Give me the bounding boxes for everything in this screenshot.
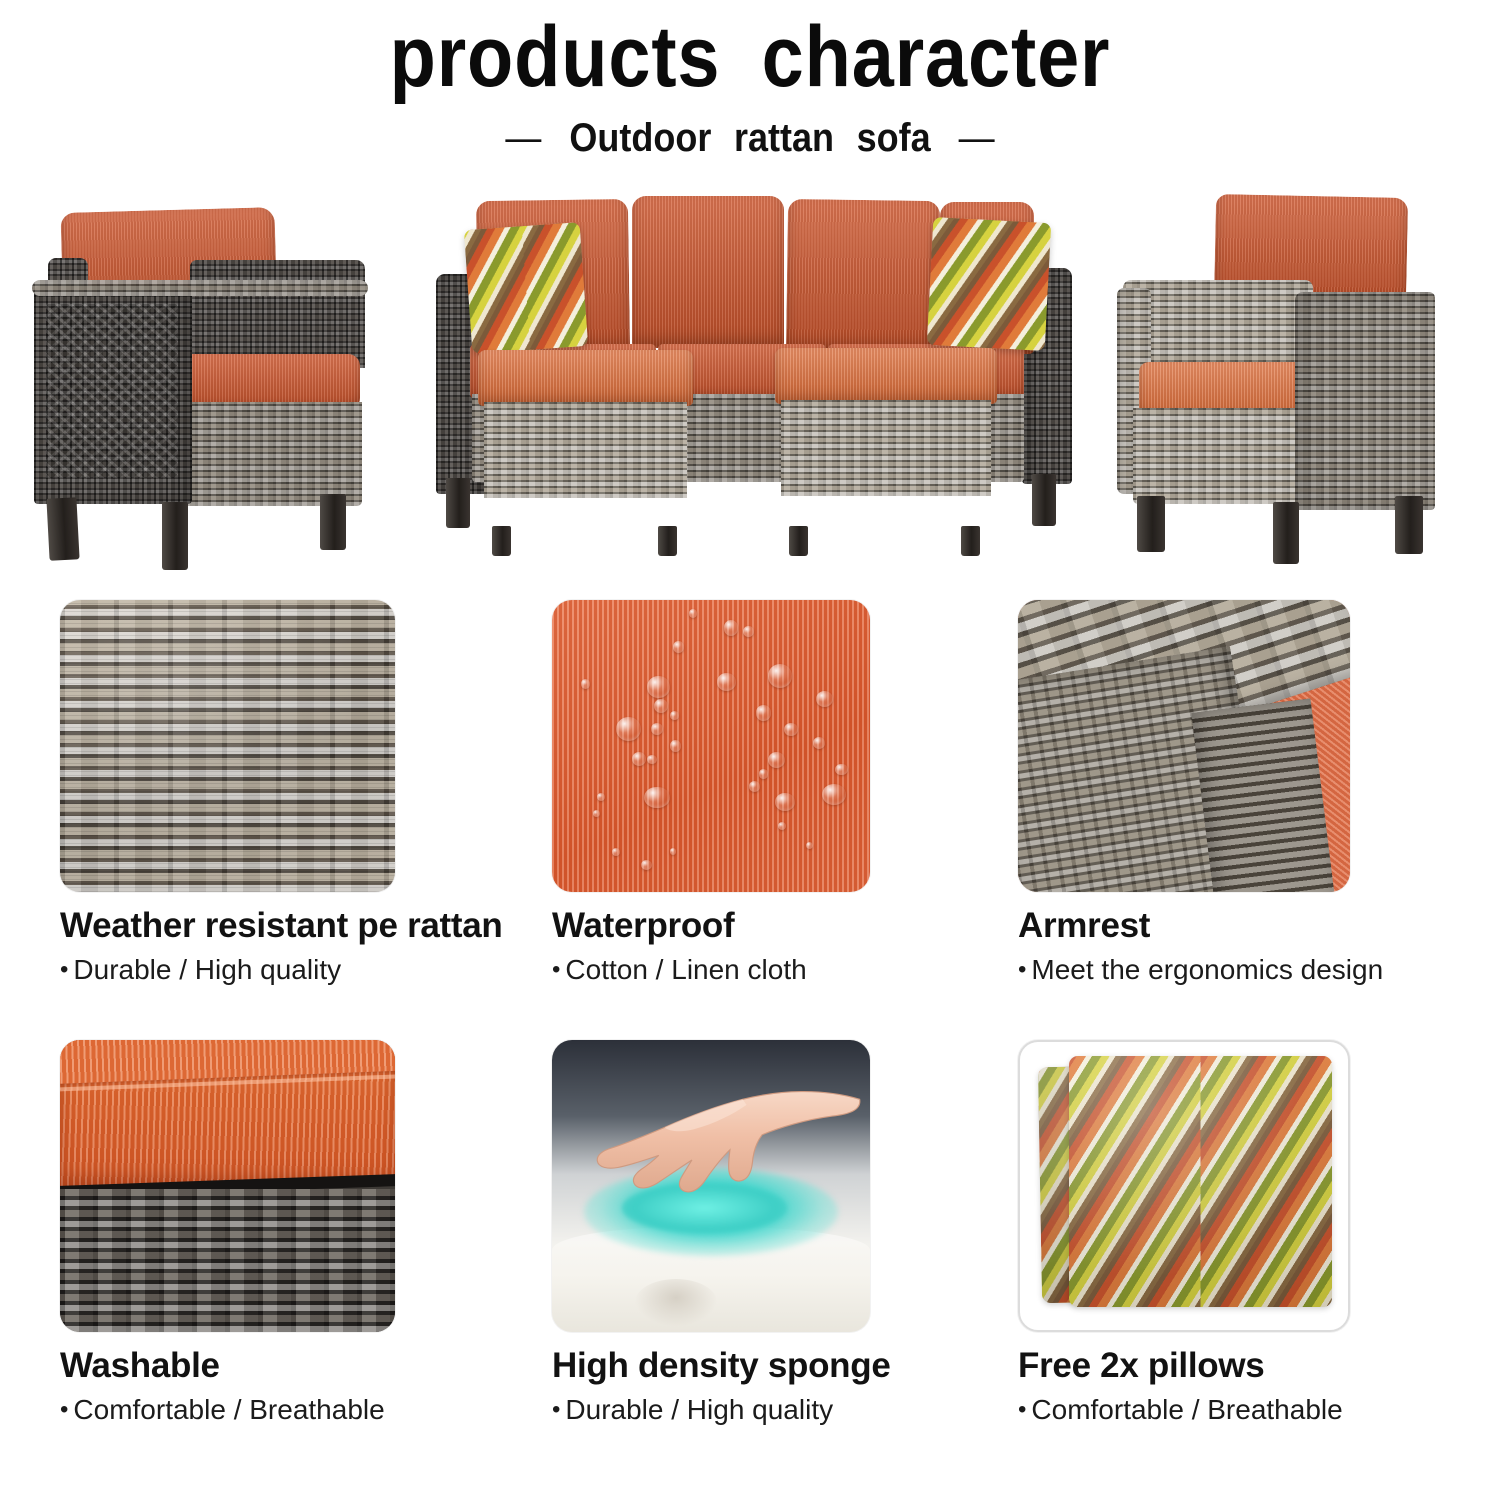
ottoman-right-frame — [781, 400, 991, 496]
feature-bullet-text: Cotton / Linen cloth — [565, 954, 806, 985]
armchair-left-near-arm — [34, 286, 192, 504]
ottoman-left-leg — [492, 526, 511, 556]
feature-title: Washable — [60, 1346, 530, 1386]
memory-foam-swatch-icon — [552, 1040, 870, 1332]
washable-rattan-base — [60, 1189, 395, 1332]
feature-bullet-text: Comfortable / Breathable — [1031, 1394, 1342, 1425]
feature-bullet: •Durable / High quality — [60, 953, 530, 987]
feature-card-waterproof: Waterproof •Cotton / Linen cloth — [552, 600, 1022, 987]
ottoman-left-cushion — [478, 350, 693, 406]
dash-right: — — [953, 116, 1000, 160]
armchair-right-leg — [1395, 496, 1423, 554]
feature-card-high-density-sponge: High density sponge •Durable / High qual… — [552, 1040, 1022, 1427]
armchair-left-leg — [320, 494, 346, 550]
bullet-glyph: • — [1018, 1396, 1031, 1423]
bullet-glyph: • — [60, 1396, 73, 1423]
hero-product-image — [0, 178, 1500, 598]
ottoman-left-leg — [658, 526, 677, 556]
feature-title: Weather resistant pe rattan — [60, 906, 530, 946]
ottoman-right-leg — [961, 526, 980, 556]
feature-card-free-pillows: Free 2x pillows •Comfortable / Breathabl… — [1018, 1040, 1488, 1427]
product-ottoman-left — [478, 350, 693, 530]
feature-bullet: •Cotton / Linen cloth — [552, 953, 1022, 987]
armchair-right-leg — [1273, 502, 1299, 564]
feature-card-washable: Washable •Comfortable / Breathable — [60, 1040, 530, 1427]
feature-title: Armrest — [1018, 906, 1488, 946]
product-armchair-right — [1095, 196, 1455, 574]
bullet-glyph: • — [60, 956, 73, 983]
feature-bullet: •Comfortable / Breathable — [1018, 1393, 1488, 1427]
cushion-on-rattan-swatch-icon — [60, 1040, 395, 1332]
sofa-leg — [1032, 474, 1056, 526]
feature-title: Free 2x pillows — [1018, 1346, 1488, 1386]
armchair-left-back-frame — [190, 260, 365, 368]
foam-indentation — [635, 1279, 718, 1326]
feature-bullet: •Durable / High quality — [552, 1393, 1022, 1427]
feature-card-armrest: Armrest •Meet the ergonomics design — [1018, 600, 1488, 987]
page-subtitle: — Outdoor rattan sofa — — [75, 116, 1425, 161]
bullet-glyph: • — [552, 956, 565, 983]
feature-bullet-text: Meet the ergonomics design — [1031, 954, 1383, 985]
feature-title: Waterproof — [552, 906, 1022, 946]
bullet-glyph: • — [552, 1396, 565, 1423]
ottoman-left-frame — [484, 402, 687, 498]
dash-left: — — [500, 116, 547, 160]
feature-row-2: Washable •Comfortable / Breathable — [0, 1040, 1500, 1480]
armchair-left-leg — [46, 497, 79, 560]
feature-title: High density sponge — [552, 1346, 1022, 1386]
armchair-right-base — [1133, 408, 1313, 504]
feature-card-weather-resistant: Weather resistant pe rattan •Durable / H… — [60, 600, 530, 987]
armrest-corner-swatch-icon — [1018, 600, 1350, 892]
page-title: products character — [90, 12, 1410, 102]
ottoman-right-cushion — [775, 348, 997, 404]
feature-bullet: •Comfortable / Breathable — [60, 1393, 530, 1427]
armchair-left-top-rail — [32, 280, 368, 296]
bullet-glyph: • — [1018, 956, 1031, 983]
header: products character — Outdoor rattan sofa… — [0, 0, 1500, 175]
chevron-pillow-swatch-icon — [1018, 1040, 1350, 1332]
product-armchair-left — [30, 206, 390, 574]
armchair-right-leg — [1137, 496, 1165, 552]
sofa-throw-pillow-left — [464, 222, 588, 354]
feature-bullet-text: Durable / High quality — [565, 1394, 833, 1425]
feature-bullet-text: Durable / High quality — [73, 954, 341, 985]
feature-grid: Weather resistant pe rattan •Durable / H… — [0, 600, 1500, 1480]
armchair-right-near-arm — [1295, 292, 1435, 510]
armchair-left-leg — [162, 502, 188, 570]
feature-row-1: Weather resistant pe rattan •Durable / H… — [0, 600, 1500, 1040]
hand-icon — [571, 1075, 864, 1215]
subtitle-text: Outdoor rattan sofa — [569, 116, 930, 160]
sofa-back-cushion — [786, 199, 940, 353]
water-droplets-swatch-icon — [552, 600, 870, 892]
armchair-left-base — [182, 402, 362, 506]
sofa-leg — [446, 478, 470, 528]
feature-bullet: •Meet the ergonomics design — [1018, 953, 1488, 987]
sofa-throw-pillow-right — [927, 217, 1052, 351]
feature-bullet-text: Comfortable / Breathable — [73, 1394, 384, 1425]
ottoman-right-leg — [789, 526, 808, 556]
rattan-weave-swatch-icon — [60, 600, 395, 892]
throw-pillow-front — [1069, 1056, 1331, 1307]
product-ottoman-right — [775, 348, 997, 530]
sofa-back-cushion — [632, 196, 784, 348]
